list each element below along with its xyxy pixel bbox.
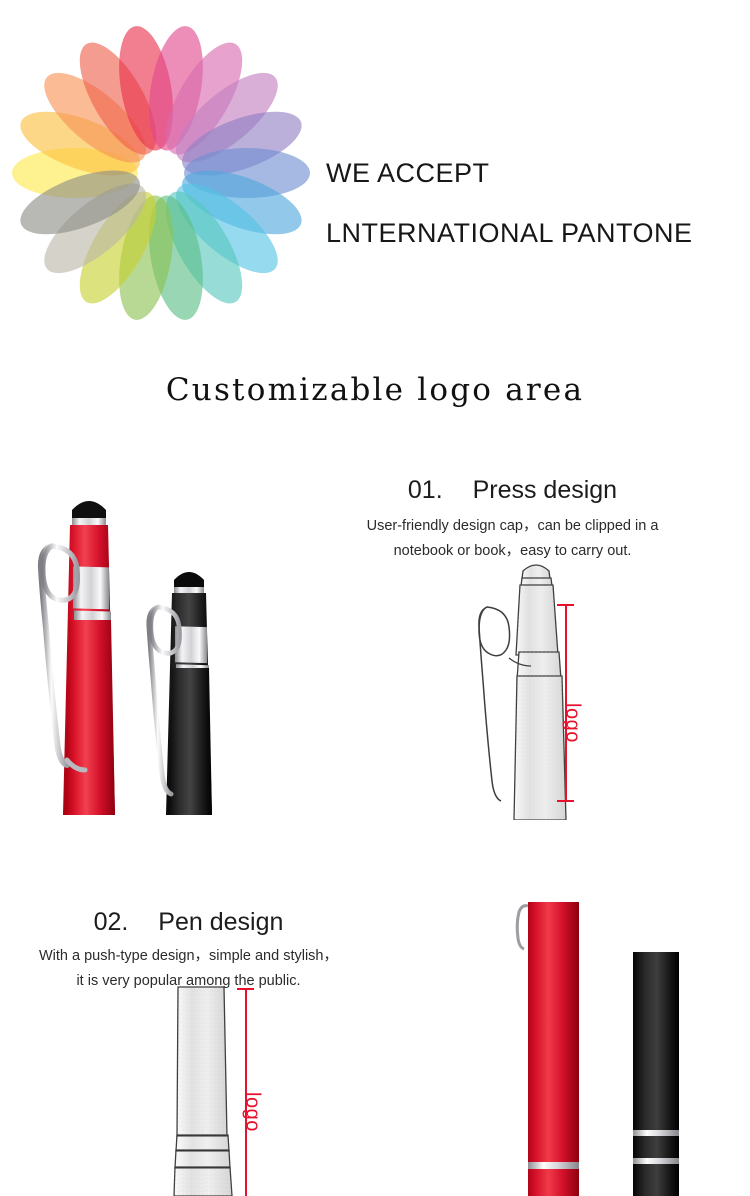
- section-01-logo-dimension-marker: logo: [556, 604, 596, 802]
- stylus-pens-photo: [22, 470, 272, 815]
- section-02-heading: 02. Pen design: [16, 908, 361, 937]
- hero-line-we-accept: WE ACCEPT: [326, 160, 750, 187]
- pen-barrels-photo: [495, 890, 730, 1196]
- customizable-logo-area-title: Customizable logo area: [0, 372, 750, 408]
- section-01-logo-label: logo: [561, 703, 584, 743]
- product-detail-page: WE ACCEPT LNTERNATIONAL PANTONE Customiz…: [0, 0, 750, 1196]
- section-02-logo-dimension-marker: logo: [236, 988, 276, 1196]
- section-01-heading: 01. Press design: [345, 476, 680, 505]
- section-01-copy-line-1: User-friendly design cap，can be clipped …: [345, 514, 680, 539]
- section-02-copy-line-1: With a push-type design，simple and styli…: [16, 944, 361, 969]
- section-02-logo-label: logo: [241, 1092, 264, 1132]
- hero-text-block: WE ACCEPT LNTERNATIONAL PANTONE: [326, 160, 750, 247]
- section-02-title: Pen design: [158, 908, 283, 936]
- section-01-title: Press design: [473, 476, 618, 504]
- section-02-text-block: 02. Pen design With a push-type design，s…: [16, 908, 361, 994]
- hero-line-international-pantone: LNTERNATIONAL PANTONE: [326, 220, 750, 247]
- section-02-number: 02.: [94, 908, 129, 936]
- section-01-number: 01.: [408, 476, 443, 504]
- section-01-text-block: 01. Press design User-friendly design ca…: [345, 476, 680, 564]
- pantone-color-wheel-logo: [8, 20, 314, 326]
- hero-section: WE ACCEPT LNTERNATIONAL PANTONE: [0, 0, 750, 350]
- dimension-cap-bottom: [557, 800, 574, 802]
